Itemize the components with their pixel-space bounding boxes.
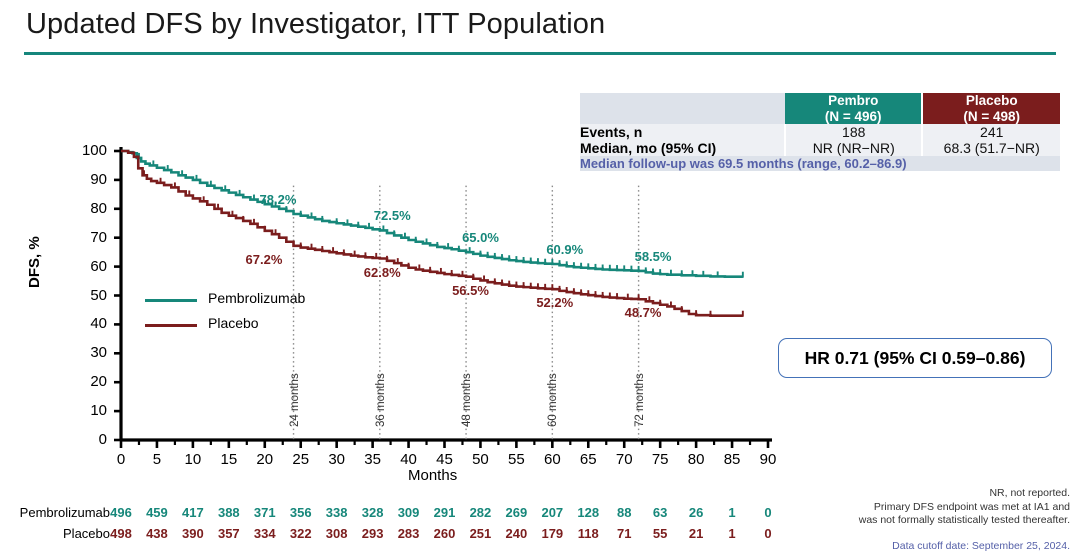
milestone-value-label: 62.8%: [364, 265, 401, 280]
milestone-axis-label: 36 months: [375, 373, 387, 427]
milestone-value-label: 72.5%: [374, 208, 411, 223]
risk-count-cell: 388: [212, 505, 246, 520]
risk-count-cell: 55: [643, 526, 677, 541]
milestone-axis-label: 48 months: [461, 373, 473, 427]
y-axis-tick-label: 40: [73, 315, 107, 332]
milestone-axis-label: 60 months: [547, 373, 559, 427]
legend-label-pembrolizumab: Pembrolizumab: [208, 290, 305, 306]
risk-row-label-placebo: Placebo: [6, 526, 110, 541]
risk-count-cell: 328: [356, 505, 390, 520]
x-axis-tick-label: 45: [430, 451, 460, 468]
risk-count-cell: 118: [571, 526, 605, 541]
risk-count-cell: 282: [463, 505, 497, 520]
x-axis-tick-label: 10: [178, 451, 208, 468]
risk-count-cell: 260: [428, 526, 462, 541]
x-axis-tick-label: 90: [753, 451, 783, 468]
x-axis-tick-label: 60: [537, 451, 567, 468]
risk-count-cell: 322: [284, 526, 318, 541]
risk-count-cell: 26: [679, 505, 713, 520]
y-axis-tick-label: 50: [73, 287, 107, 304]
risk-count-cell: 417: [176, 505, 210, 520]
x-axis-tick-label: 5: [142, 451, 172, 468]
legend-swatch-pembrolizumab: [145, 299, 197, 302]
risk-count-cell: 88: [607, 505, 641, 520]
risk-count-cell: 371: [248, 505, 282, 520]
risk-count-cell: 63: [643, 505, 677, 520]
footnote-block: NR, not reported. Primary DFS endpoint w…: [750, 487, 1070, 528]
y-axis-tick-label: 10: [73, 402, 107, 419]
risk-count-cell: 1: [715, 505, 749, 520]
risk-count-cell: 269: [499, 505, 533, 520]
risk-count-cell: 251: [463, 526, 497, 541]
y-axis-tick-label: 0: [73, 431, 107, 448]
risk-count-cell: 459: [140, 505, 174, 520]
risk-count-cell: 496: [104, 505, 138, 520]
risk-count-cell: 179: [535, 526, 569, 541]
milestone-value-label: 48.7%: [625, 305, 662, 320]
y-axis-title: DFS, %: [26, 236, 43, 288]
y-axis-tick-label: 20: [73, 373, 107, 390]
x-axis-tick-label: 85: [717, 451, 747, 468]
risk-count-cell: 240: [499, 526, 533, 541]
y-axis-tick-label: 70: [73, 229, 107, 246]
legend-label-placebo: Placebo: [208, 315, 259, 331]
risk-count-cell: 498: [104, 526, 138, 541]
footnote-endpoint-2: was not formally statistically tested th…: [750, 514, 1070, 528]
risk-count-cell: 338: [320, 505, 354, 520]
risk-count-cell: 128: [571, 505, 605, 520]
milestone-axis-label: 24 months: [289, 373, 301, 427]
y-axis-tick-label: 60: [73, 258, 107, 275]
legend-swatch-placebo: [145, 324, 197, 327]
risk-count-cell: 1: [715, 526, 749, 541]
y-axis-tick-label: 100: [73, 142, 107, 159]
risk-count-cell: 308: [320, 526, 354, 541]
risk-row-label-pembrolizumab: Pembrolizumab: [6, 505, 110, 520]
risk-count-cell: 309: [392, 505, 426, 520]
x-axis-tick-label: 70: [609, 451, 639, 468]
milestone-axis-label: 72 months: [634, 373, 646, 427]
risk-count-cell: 71: [607, 526, 641, 541]
risk-count-cell: 438: [140, 526, 174, 541]
x-axis-tick-label: 75: [645, 451, 675, 468]
footnote-endpoint-1: Primary DFS endpoint was met at IA1 and: [750, 501, 1070, 515]
milestone-value-label: 60.9%: [546, 242, 583, 257]
x-axis-tick-label: 40: [394, 451, 424, 468]
x-axis-tick-label: 50: [465, 451, 495, 468]
risk-count-cell: 334: [248, 526, 282, 541]
x-axis-tick-label: 65: [573, 451, 603, 468]
milestone-value-label: 78.2%: [260, 192, 297, 207]
milestone-value-label: 56.5%: [452, 283, 489, 298]
x-axis-tick-label: 15: [214, 451, 244, 468]
x-axis-tick-label: 25: [286, 451, 316, 468]
y-axis-tick-label: 80: [73, 200, 107, 217]
milestone-value-label: 67.2%: [246, 252, 283, 267]
risk-count-cell: 356: [284, 505, 318, 520]
y-axis-tick-label: 90: [73, 171, 107, 188]
x-axis-title: Months: [408, 467, 457, 484]
x-axis-tick-label: 20: [250, 451, 280, 468]
risk-count-cell: 291: [428, 505, 462, 520]
x-axis-tick-label: 0: [106, 451, 136, 468]
footnote-nr: NR, not reported.: [750, 487, 1070, 501]
risk-count-cell: 283: [392, 526, 426, 541]
footnote-data-cutoff: Data cutoff date: September 25, 2024.: [750, 540, 1070, 552]
x-axis-tick-label: 35: [358, 451, 388, 468]
milestone-value-label: 52.2%: [536, 295, 573, 310]
x-axis-tick-label: 80: [681, 451, 711, 468]
y-axis-tick-label: 30: [73, 344, 107, 361]
risk-count-cell: 207: [535, 505, 569, 520]
risk-count-cell: 21: [679, 526, 713, 541]
x-axis-tick-label: 55: [501, 451, 531, 468]
milestone-value-label: 65.0%: [462, 230, 499, 245]
kaplan-meier-plot: [0, 0, 1080, 556]
risk-count-cell: 293: [356, 526, 390, 541]
risk-count-cell: 390: [176, 526, 210, 541]
risk-count-cell: 0: [751, 526, 785, 541]
milestone-value-label: 58.5%: [635, 249, 672, 264]
risk-count-cell: 357: [212, 526, 246, 541]
x-axis-tick-label: 30: [322, 451, 352, 468]
